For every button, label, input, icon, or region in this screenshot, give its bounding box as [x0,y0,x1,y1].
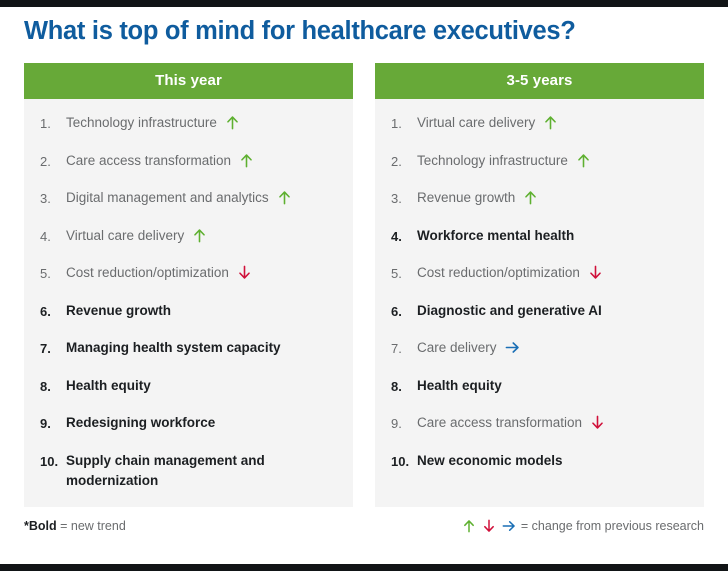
list-item-number: 10. [40,451,66,472]
up-arrow-icon [576,151,591,168]
infographic-page: What is top of mind for healthcare execu… [0,7,728,564]
up-arrow-icon [576,153,591,168]
bold-legend-marker: *Bold [24,519,57,533]
list-item: 8.Health equity [24,376,353,414]
list-item-number: 4. [40,226,66,247]
right-arrow-icon [505,340,520,355]
up-arrow-icon [225,115,240,130]
down-arrow-icon [482,519,496,533]
list-item-label: Diagnostic and generative AI [417,301,608,321]
list-item-number: 9. [40,413,66,434]
down-arrow-icon [237,265,252,280]
column-this-year: This year 1.Technology infrastructure2.C… [24,63,353,507]
list-item-label: New economic models [417,451,569,471]
bottom-border-bar [0,564,728,571]
column-list-this-year: 1.Technology infrastructure2.Care access… [24,99,353,507]
list-item-label: Revenue growth [66,301,177,321]
list-item: 4.Workforce mental health [375,226,704,264]
list-item-label: Revenue growth [417,188,521,208]
page-title: What is top of mind for healthcare execu… [0,7,728,46]
down-arrow-icon [590,415,605,430]
bold-legend-note: = new trend [57,519,126,533]
list-item-label: Virtual care delivery [66,226,190,246]
list-item-number: 1. [40,113,66,134]
list-item: 9.Redesigning workforce [24,413,353,451]
trend-legend: = change from previous research [462,519,704,533]
list-item-label: Workforce mental health [417,226,580,246]
list-item-label: Health equity [417,376,508,396]
up-arrow-icon [239,153,254,168]
down-arrow-icon [588,263,603,280]
down-arrow-icon [482,519,496,533]
up-arrow-icon [192,228,207,243]
list-item-number: 7. [40,338,66,359]
up-arrow-icon [239,151,254,168]
list-item: 6.Diagnostic and generative AI [375,301,704,339]
list-item-label: Technology infrastructure [66,113,223,133]
right-arrow-icon [502,519,516,533]
footer-legend: *Bold = new trend = change from previous… [0,507,728,533]
trend-legend-icons [462,519,516,533]
list-item-number: 4. [391,226,417,247]
list-item-number: 5. [391,263,417,284]
list-item-label: Virtual care delivery [417,113,541,133]
list-item-number: 8. [391,376,417,397]
list-item: 3.Digital management and analytics [24,188,353,226]
down-arrow-icon [590,413,605,430]
list-item-number: 8. [40,376,66,397]
list-item-label: Managing health system capacity [66,338,287,358]
down-arrow-icon [237,263,252,280]
bold-legend: *Bold = new trend [24,519,126,533]
list-item: 2.Technology infrastructure [375,151,704,189]
list-item-number: 6. [40,301,66,322]
list-item-label: Cost reduction/optimization [417,263,586,283]
list-item: 1.Virtual care delivery [375,113,704,151]
list-item-label: Care access transformation [417,413,588,433]
list-item-label: Redesigning workforce [66,413,221,433]
columns-container: This year 1.Technology infrastructure2.C… [0,46,728,507]
up-arrow-icon [523,190,538,205]
up-arrow-icon [543,113,558,130]
list-item-number: 5. [40,263,66,284]
list-item: 3.Revenue growth [375,188,704,226]
list-item: 10.Supply chain management and moderniza… [24,451,353,492]
list-item-number: 9. [391,413,417,434]
up-arrow-icon [462,519,476,533]
list-item: 5.Cost reduction/optimization [375,263,704,301]
column-3-5-years: 3-5 years 1.Virtual care delivery2.Techn… [375,63,704,507]
list-item: 8.Health equity [375,376,704,414]
trend-legend-text: = change from previous research [521,519,704,533]
up-arrow-icon [277,188,292,205]
list-item-number: 1. [391,113,417,134]
list-item: 7.Managing health system capacity [24,338,353,376]
list-item-number: 7. [391,338,417,359]
list-item: 6.Revenue growth [24,301,353,339]
list-item-label: Digital management and analytics [66,188,275,208]
column-header-this-year: This year [24,63,353,99]
list-item-number: 10. [391,451,417,472]
up-arrow-icon [277,190,292,205]
list-item-label: Care delivery [417,338,503,358]
list-item-number: 2. [40,151,66,172]
list-item: 5.Cost reduction/optimization [24,263,353,301]
down-arrow-icon [588,265,603,280]
column-header-3-5-years: 3-5 years [375,63,704,99]
column-list-3-5-years: 1.Virtual care delivery2.Technology infr… [375,99,704,507]
up-arrow-icon [462,519,476,533]
right-arrow-icon [505,338,520,355]
right-arrow-icon [502,519,516,533]
list-item: 1.Technology infrastructure [24,113,353,151]
list-item-label: Supply chain management and modernizatio… [66,451,343,492]
list-item: 4.Virtual care delivery [24,226,353,264]
up-arrow-icon [225,113,240,130]
list-item: 9.Care access transformation [375,413,704,451]
list-item-label: Cost reduction/optimization [66,263,235,283]
list-item-number: 6. [391,301,417,322]
list-item-number: 3. [40,188,66,209]
up-arrow-icon [543,115,558,130]
list-item-number: 2. [391,151,417,172]
list-item: 2.Care access transformation [24,151,353,189]
list-item: 7.Care delivery [375,338,704,376]
top-border-bar [0,0,728,7]
up-arrow-icon [523,188,538,205]
up-arrow-icon [192,226,207,243]
list-item: 10.New economic models [375,451,704,489]
list-item-label: Care access transformation [66,151,237,171]
list-item-number: 3. [391,188,417,209]
list-item-label: Technology infrastructure [417,151,574,171]
list-item-label: Health equity [66,376,157,396]
